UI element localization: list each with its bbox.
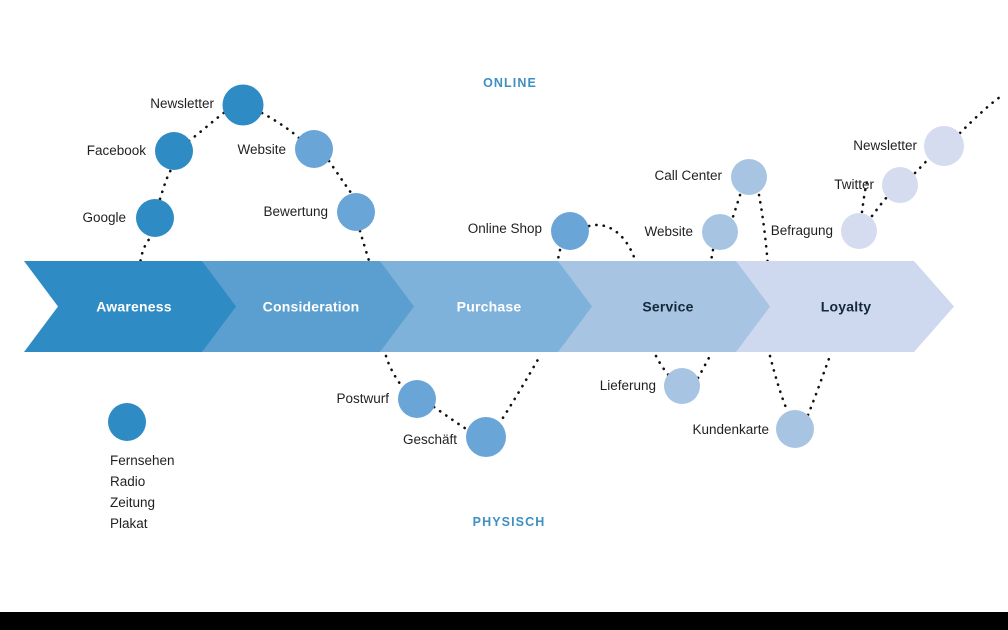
connector-geschaeft-to-purchase [499,356,540,424]
customer-journey-diagram: AwarenessConsiderationPurchaseServiceLoy… [0,0,1008,630]
touchpoint-label-website-b: Website [644,224,693,239]
touchpoint-node-newsletter-b[interactable] [924,126,964,166]
zone-label-online: ONLINE [483,76,537,90]
touchpoint-node-lieferung[interactable] [664,368,700,404]
mass-media-item-0: Fernsehen [110,453,175,468]
connector-newsletter-to-website [262,113,300,139]
touchpoint-node-website-a[interactable] [295,130,333,168]
connector-loyalty-to-kundenkarte [770,356,788,412]
touchpoint-label-bewertung: Bewertung [263,204,328,219]
mass-media-item-1: Radio [110,474,145,489]
touchpoint-node-postwurf[interactable] [398,380,436,418]
touchpoint-label-twitter: Twitter [834,177,874,192]
bottom-letterbox-band [0,612,1008,630]
touchpoint-label-newsletter-b: Newsletter [853,138,917,153]
connector-google-to-facebook [160,170,171,199]
zone-label-physical: PHYSISCH [473,515,546,529]
connector-website-to-bewertung [329,161,352,194]
touchpoint-node-call-center[interactable] [731,159,767,195]
stage-label-purchase: Purchase [457,299,522,315]
mass-media-item-3: Plakat [110,516,148,531]
touchpoint-label-website-a: Website [237,142,286,157]
touchpoint-node-bewertung[interactable] [337,193,375,231]
connector-consideration-to-postwurf [386,356,406,391]
touchpoint-node-newsletter-a[interactable] [223,85,264,126]
connector-kundenkarte-to-loyalty [808,356,830,415]
mass-media-item-2: Zeitung [110,495,155,510]
connector-postwurf-to-geschaeft [434,407,468,430]
stage-label-loyalty: Loyalty [821,299,871,315]
touchpoint-label-kundenkarte: Kundenkarte [692,422,769,437]
touchpoint-label-befragung: Befragung [771,223,833,238]
touchpoint-label-facebook: Facebook [87,143,147,158]
connector-befragung-to-twitter [872,196,888,216]
touchpoint-node-website-b[interactable] [702,214,738,250]
connector-facebook-to-newsletter [189,112,225,141]
touchpoint-node-befragung[interactable] [841,213,877,249]
touchpoint-label-google: Google [82,210,126,225]
connector-lieferung-to-service-r [698,356,710,378]
touchpoint-node-geschaeft[interactable] [466,417,506,457]
journey-canvas: AwarenessConsiderationPurchaseServiceLoy… [0,0,1008,630]
stage-label-service: Service [642,299,693,315]
touchpoint-label-newsletter-a: Newsletter [150,96,214,111]
connector-onlineshop-to-service [589,225,637,266]
touchpoint-node-google[interactable] [136,199,174,237]
journey-stages-group: AwarenessConsiderationPurchaseServiceLoy… [24,261,954,352]
touchpoint-label-online-shop: Online Shop [468,221,542,236]
touchpoint-node-facebook[interactable] [155,132,193,170]
touchpoint-node-twitter[interactable] [882,167,918,203]
touchpoint-label-call-center: Call Center [654,168,722,183]
touchpoint-label-postwurf: Postwurf [336,391,389,406]
stage-label-awareness: Awareness [96,299,171,315]
mass-media-list: FernsehenRadioZeitungPlakat [110,453,175,531]
connector-newsletter-b-out [960,97,1000,133]
touchpoint-node-kundenkarte[interactable] [776,410,814,448]
touchpoint-node-online-shop[interactable] [551,212,589,250]
touchpoint-label-lieferung: Lieferung [600,378,656,393]
touchpoint-label-geschaeft: Geschäft [403,432,457,447]
touchpoint-node-mass-media[interactable] [108,403,146,441]
stage-label-consideration: Consideration [263,299,360,315]
